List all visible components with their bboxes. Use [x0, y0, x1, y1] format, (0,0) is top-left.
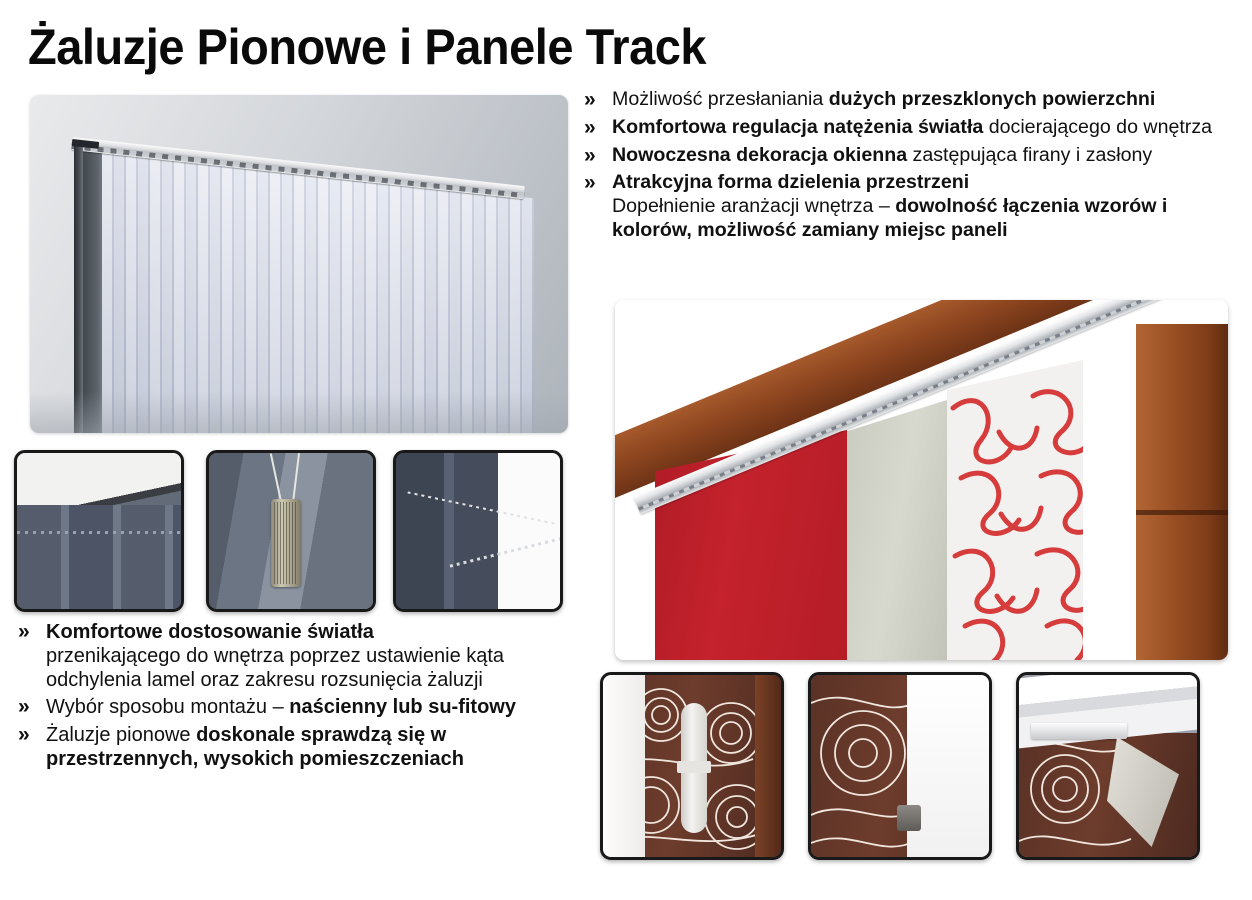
- feature-left-item: »Komfortowe dostosowanie światłaprzenika…: [18, 620, 578, 692]
- emphasis-text: naścienny lub su-fitowy: [289, 696, 516, 718]
- feature-left-line: Komfortowe dostosowanie światła: [46, 620, 578, 644]
- thumb-panel-handle[interactable]: [600, 672, 784, 860]
- chevron-double-right-icon: »: [584, 116, 612, 141]
- feature-left-item: »Żaluzje pionowe doskonale sprawdzą się …: [18, 723, 578, 771]
- feature-list-panel-track: »Możliwość przesłaniania dużych przeszkl…: [584, 88, 1232, 246]
- feature-right-line: Możliwość przesłaniania dużych przeszklo…: [612, 88, 1232, 112]
- plain-text: zastępująca firany i zasłony: [907, 144, 1152, 166]
- feature-left-item: »Wybór sposobu montażu – naścienny lub s…: [18, 695, 578, 720]
- wood-frame-right: [1136, 324, 1228, 660]
- plain-text: Żaluzje pionowe: [46, 724, 196, 746]
- clip-cord-right: [292, 453, 300, 503]
- thumb-panel-handle-image: [603, 675, 781, 857]
- bead-chain: [450, 533, 563, 567]
- plain-text: Dopełnienie aranżacji wnętrza –: [612, 195, 895, 217]
- feature-right-text: Atrakcyjna forma dzielenia przestrzeniDo…: [612, 171, 1232, 243]
- thumb-chain-detail[interactable]: [393, 450, 563, 612]
- panel-floral: [947, 360, 1083, 660]
- clip-cord-left: [270, 453, 282, 502]
- panel-track-scene: [615, 300, 1228, 660]
- track-carrier: [1031, 723, 1127, 739]
- feature-list-vertical-blinds: »Komfortowe dostosowanie światłaprzenika…: [18, 620, 578, 774]
- emphasis-text: Komfortowe dostosowanie światła: [46, 621, 374, 643]
- thumb-weight-clip-image: [209, 453, 373, 609]
- chevron-double-right-icon: »: [18, 723, 46, 748]
- chevron-double-right-icon: »: [18, 695, 46, 720]
- white-wall-strip: [603, 675, 645, 857]
- thumb-panel-weight[interactable]: [808, 672, 992, 860]
- feature-left-text: Wybór sposobu montażu – naścienny lub su…: [46, 695, 578, 719]
- feature-left-line: Wybór sposobu montażu – naścienny lub su…: [46, 695, 578, 719]
- feature-right-line: Dopełnienie aranżacji wnętrza – dowolnoś…: [612, 195, 1232, 243]
- blind-side-return: [82, 145, 104, 433]
- wood-edge: [755, 675, 781, 857]
- plain-text: Możliwość przesłaniania: [612, 88, 829, 110]
- thumb-panel-rail-image: [1019, 675, 1197, 857]
- chevron-double-right-icon: »: [18, 620, 46, 645]
- page-title: Żaluzje Pionowe i Panele Track: [28, 18, 706, 76]
- feature-right-item: »Możliwość przesłaniania dużych przeszkl…: [584, 88, 1232, 113]
- lamella-weight: [271, 499, 301, 587]
- panel-beige: [847, 400, 947, 660]
- feature-right-text: Komfortowa regulacja natężenia światła d…: [612, 116, 1232, 140]
- vertical-blinds-scene: [30, 95, 568, 433]
- plain-text: Wybór sposobu montażu –: [46, 696, 289, 718]
- emphasis-text: dużych przeszklonych powierzchni: [829, 88, 1156, 110]
- thumb-track-hangers[interactable]: [14, 450, 184, 612]
- chevron-double-right-icon: »: [584, 171, 612, 196]
- blind-endcap: [74, 143, 83, 433]
- panel-track-photo: [615, 300, 1228, 660]
- emphasis-text: Komfortowa regulacja natężenia światła: [612, 116, 983, 138]
- feature-right-item: »Komfortowa regulacja natężenia światła …: [584, 116, 1232, 141]
- feature-right-item: »Atrakcyjna forma dzielenia przestrzeniD…: [584, 171, 1232, 243]
- feature-right-item: »Nowoczesna dekoracja okienna zastępując…: [584, 144, 1232, 169]
- panel-handle: [681, 703, 707, 833]
- feature-right-line: Nowoczesna dekoracja okienna zastępująca…: [612, 144, 1232, 168]
- thumb-track-hangers-image: [17, 453, 181, 609]
- thumb-panel-rail[interactable]: [1016, 672, 1200, 860]
- feature-left-line: Żaluzje pionowe doskonale sprawdzą się w…: [46, 723, 578, 771]
- plain-text: docierającego do wnętrza: [983, 116, 1212, 138]
- thumb-chain-detail-image: [396, 453, 560, 609]
- feature-right-line: Atrakcyjna forma dzielenia przestrzeni: [612, 171, 1232, 195]
- feature-left-text: Komfortowe dostosowanie światłaprzenikaj…: [46, 620, 578, 692]
- panel-bottom-weight: [897, 805, 921, 831]
- plain-text: przenikającego do wnętrza poprzez ustawi…: [46, 645, 504, 691]
- feature-left-line: przenikającego do wnętrza poprzez ustawi…: [46, 644, 578, 692]
- feature-right-text: Nowoczesna dekoracja okienna zastępująca…: [612, 144, 1232, 168]
- vertical-blinds-photo: [30, 95, 568, 433]
- feature-right-line: Komfortowa regulacja natężenia światła d…: [612, 116, 1232, 140]
- chevron-double-right-icon: »: [584, 144, 612, 169]
- feature-left-text: Żaluzje pionowe doskonale sprawdzą się w…: [46, 723, 578, 771]
- emphasis-text: Nowoczesna dekoracja okienna: [612, 144, 907, 166]
- thumb-weight-clip[interactable]: [206, 450, 376, 612]
- photo-floor-gradient: [30, 391, 568, 433]
- chevron-double-right-icon: »: [584, 88, 612, 113]
- emphasis-text: Atrakcyjna forma dzielenia przestrzeni: [612, 171, 969, 193]
- thumb-panel-weight-image: [811, 675, 989, 857]
- feature-right-text: Możliwość przesłaniania dużych przeszklo…: [612, 88, 1232, 112]
